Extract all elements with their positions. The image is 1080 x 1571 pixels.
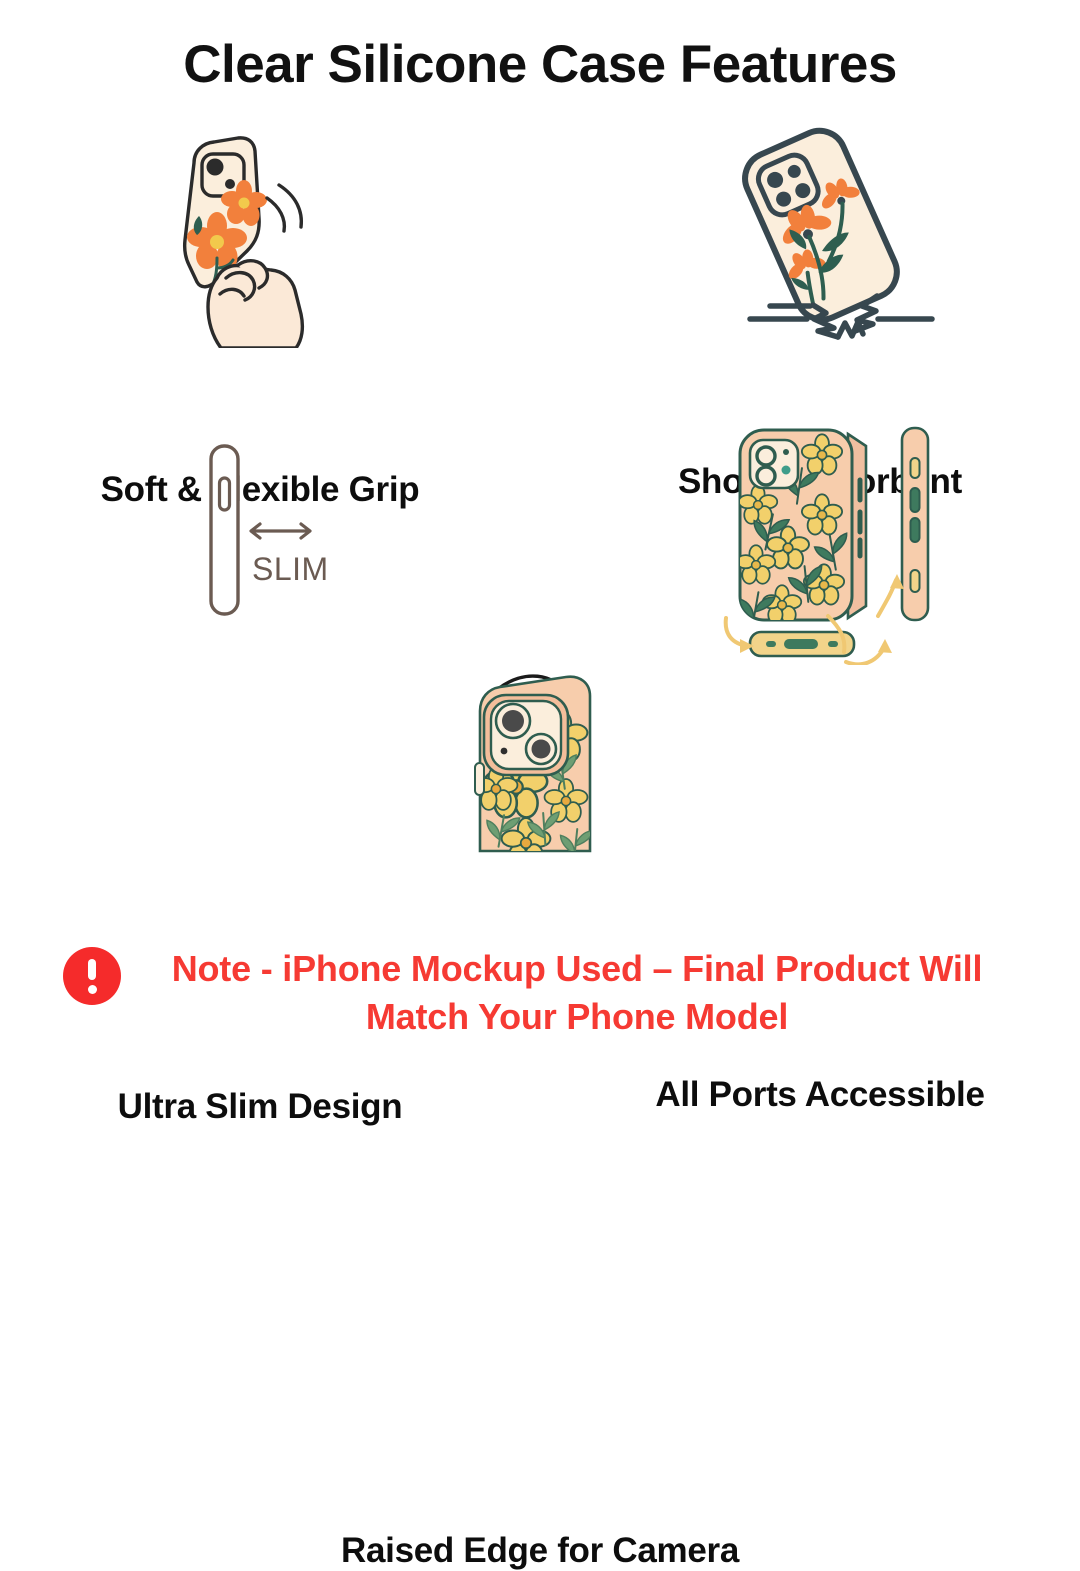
exclamation-alert-icon bbox=[63, 947, 121, 1005]
page-title: Clear Silicone Case Features bbox=[0, 34, 1080, 95]
feature-all-ports-accessible: All Ports Accessible bbox=[560, 420, 1080, 665]
phone-case-ports-cutouts-illustration bbox=[710, 420, 950, 670]
feature-shock-absorbent: Shock Absorbent bbox=[560, 118, 1080, 408]
disclaimer-note: Note - iPhone Mockup Used – Final Produc… bbox=[0, 945, 1080, 1040]
feature-caption: All Ports Accessible bbox=[560, 1075, 1080, 1115]
hand-flexing-phone-case-illustration bbox=[120, 118, 370, 353]
phone-case-raised-camera-bump-illustration bbox=[440, 665, 640, 865]
feature-ultra-slim-design: SLIM Ultra Slim Design bbox=[0, 432, 520, 662]
feature-caption: Raised Edge for Camera bbox=[280, 1531, 800, 1571]
slim-annotation-text: SLIM bbox=[252, 551, 329, 587]
phone-case-drop-impact-illustration bbox=[710, 123, 940, 348]
feature-raised-edge-for-camera: Raised Edge for Camera bbox=[280, 665, 800, 865]
phone-side-profile-thickness-illustration: SLIM bbox=[190, 432, 360, 632]
feature-caption: Ultra Slim Design bbox=[0, 1087, 520, 1127]
infographic-page: Clear Silicone Case Features bbox=[0, 0, 1080, 1080]
feature-soft-flexible-grip: Soft & Flexible Grip bbox=[0, 118, 520, 408]
disclaimer-note-text: Note - iPhone Mockup Used – Final Produc… bbox=[137, 945, 1017, 1040]
